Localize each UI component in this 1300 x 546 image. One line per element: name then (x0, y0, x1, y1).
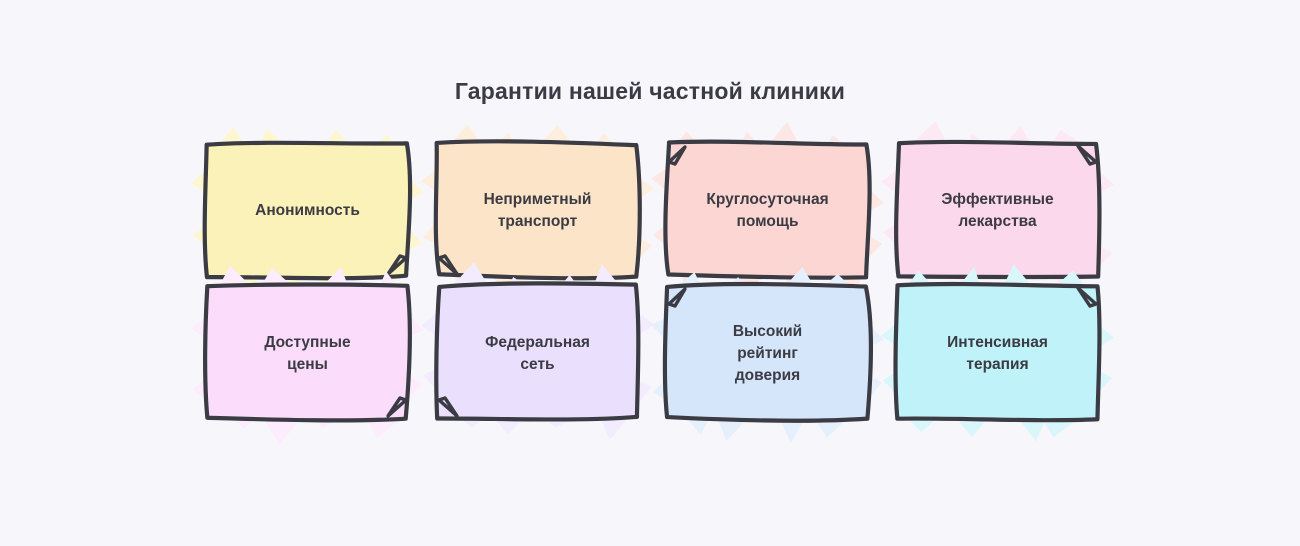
guarantee-card[interactable]: Федеральная сеть (435, 284, 640, 420)
guarantee-card[interactable]: Анонимность (205, 142, 410, 278)
infographic-canvas: Гарантии нашей частной клиники Анонимнос… (0, 0, 1300, 546)
card-label: Эффективные лекарства (927, 189, 1067, 233)
guarantee-card-grid: АнонимностьНеприметный транспортКруглосу… (205, 142, 1100, 420)
guarantee-card[interactable]: Неприметный транспорт (435, 142, 640, 278)
guarantee-card[interactable]: Доступные цены (205, 284, 410, 420)
guarantee-card[interactable]: Интенсивная терапия (895, 284, 1100, 420)
guarantee-card[interactable]: Высокий рейтинг доверия (665, 284, 870, 420)
card-label: Круглосуточная помощь (692, 189, 842, 233)
card-label: Интенсивная терапия (933, 332, 1062, 376)
card-label: Федеральная сеть (471, 332, 604, 376)
card-label: Доступные цены (250, 332, 364, 376)
card-label: Неприметный транспорт (470, 189, 606, 233)
guarantee-card[interactable]: Эффективные лекарства (895, 142, 1100, 278)
guarantee-card[interactable]: Круглосуточная помощь (665, 142, 870, 278)
card-label: Высокий рейтинг доверия (719, 321, 816, 387)
page-title: Гарантии нашей частной клиники (0, 78, 1300, 105)
card-label: Анонимность (241, 200, 374, 222)
